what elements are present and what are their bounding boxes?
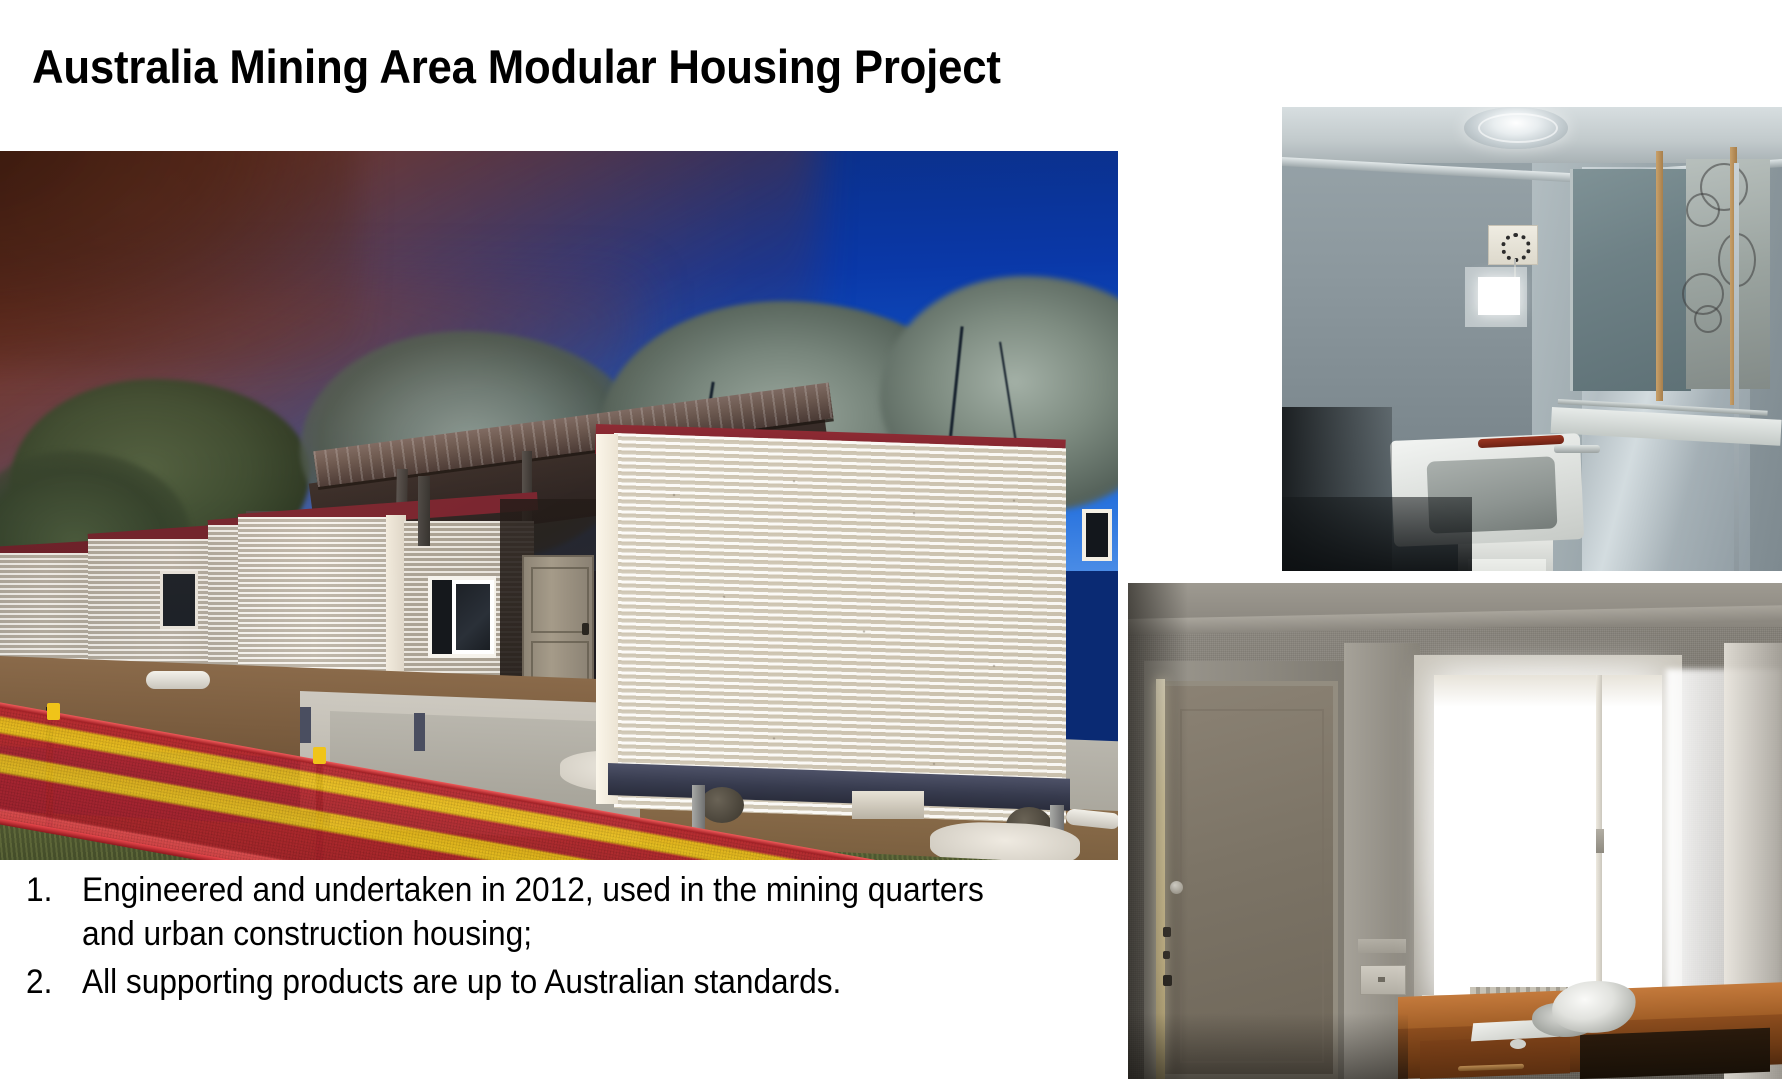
window-head-reveal (1434, 675, 1662, 707)
bedroom-shadow-bottom (1128, 1013, 1408, 1079)
bathroom-mirror-left (1570, 169, 1691, 391)
door-panel (1180, 709, 1324, 1063)
page-title: Australia Mining Area Modular Housing Pr… (32, 36, 1036, 98)
light-switch-rocker (1378, 977, 1385, 982)
bedroom-shadow-left (1128, 583, 1188, 1079)
tap-faucet (1554, 445, 1600, 453)
exhaust-fan-blades (1501, 233, 1531, 262)
modular-bedroom-interior-photo (1128, 583, 1782, 1079)
bedroom-window (1434, 675, 1662, 1005)
toilet-bowl (1468, 559, 1546, 571)
small-object-on-desk (1510, 1039, 1526, 1049)
bathroom-shadow-floor (1282, 497, 1472, 571)
list-item-text: Engineered and undertaken in 2012, used … (82, 868, 1034, 956)
modular-bathroom-interior-photo (1282, 107, 1782, 571)
mirror-circle-decal (1694, 305, 1722, 333)
list-item-text: All supporting products are up to Austra… (82, 960, 1034, 1004)
ceiling-light-ring (1478, 113, 1558, 143)
mirror-circle-decal (1686, 193, 1720, 227)
light-switch (1478, 277, 1520, 315)
shower-screen-edge (1734, 163, 1739, 571)
list-item: 1. Engineered and undertaken in 2012, us… (26, 868, 1106, 956)
desk-drawer (1420, 1035, 1570, 1079)
list-item-number: 2. (26, 960, 78, 1004)
photo-sun-glare (0, 151, 1118, 860)
wood-trim-strip-left (1656, 151, 1663, 401)
list-item-number: 1. (26, 868, 78, 912)
wall-plate-upper (1358, 939, 1406, 953)
modular-housing-exterior-photo (0, 151, 1118, 860)
bullet-list: 1. Engineered and undertaken in 2012, us… (26, 868, 1106, 1008)
list-item: 2. All supporting products are up to Aus… (26, 960, 1106, 1004)
desk-knee-opening (1580, 1028, 1770, 1079)
window-latch (1596, 829, 1604, 853)
